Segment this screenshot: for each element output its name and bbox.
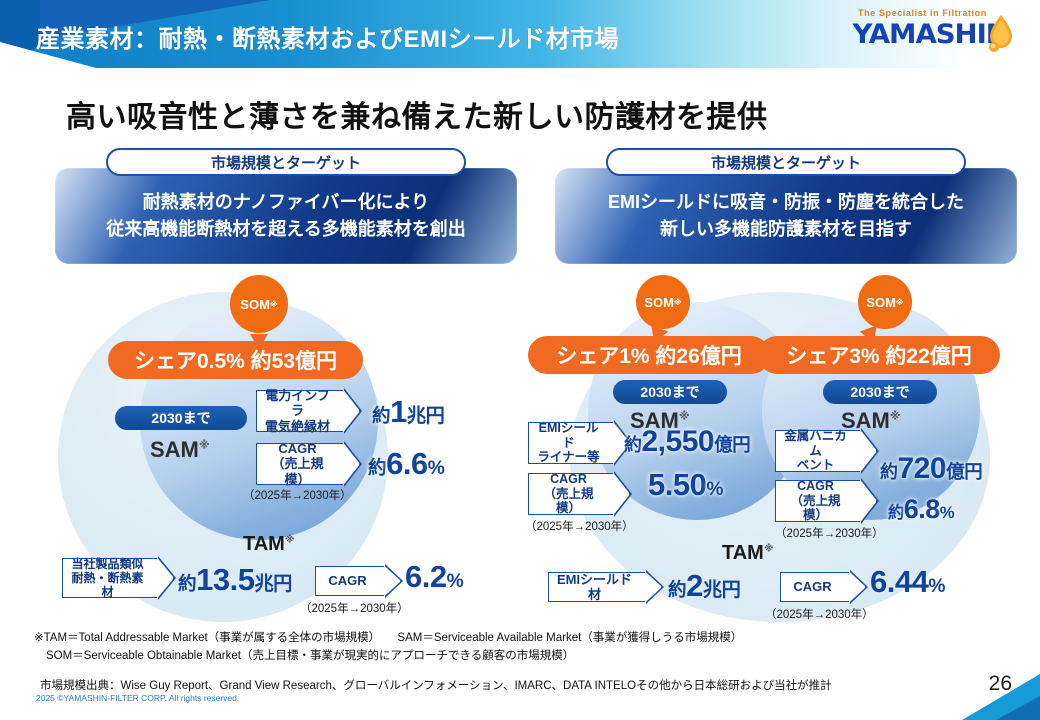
until-pill-left: 2030まで (115, 406, 247, 430)
sam-label-left: SAM※ (150, 437, 210, 463)
corner-accent-shape-2 (996, 696, 1040, 720)
tam-callout-left-line2: 耐熱・断熱素材 (70, 571, 145, 599)
panel-right-headline-line1: EMIシールドに吸音・防振・防塵を統合した (608, 189, 964, 216)
panel-left-headline: 耐熱素材のナノファイバー化により 従来高機能断熱材を超える多機能素材を創出 (55, 168, 517, 264)
som-mark-left: ※ (270, 300, 278, 309)
tam-cagr-label-left: CAGR (328, 573, 366, 588)
tam-value-right-number: 2 (686, 568, 703, 603)
tam-year-note-right: （2025年→2030年） (765, 606, 874, 622)
value-middle-1: 約2,550億円 (624, 425, 750, 459)
panel-right-headline-line2: 新しい多機能防護素材を目指す (608, 216, 964, 243)
tam-cagr-callout-left: CAGR (315, 566, 387, 596)
tam-value-left-prefix: 約 (178, 573, 196, 594)
tam-cagr-number-left: 6.2 (405, 559, 447, 594)
footnotes-block: ※TAM＝Total Addressable Market（事業が属する全体の市… (34, 630, 994, 693)
yamashin-logo: The Specialist in Filtration YAMASHIN (848, 8, 1018, 58)
callout-right-2: CAGR （売上規模） (775, 480, 863, 522)
value-middle-1-unit: 億円 (714, 434, 750, 455)
tam-cagr-value-left: 6.2% (405, 559, 463, 595)
tam-callout-right: EMIシールド材 (548, 572, 648, 602)
footnote-source: 市場規模出典：Wise Guy Report、Grand View Resear… (34, 677, 994, 693)
value-left-1: 約1兆円 (372, 394, 444, 430)
value-right-1-unit: 億円 (946, 461, 982, 482)
callout-right-2-line2: （売上規模） (783, 494, 848, 524)
value-middle-2-number: 5.50 (648, 467, 706, 502)
tam-cagr-callout-right: CAGR (780, 572, 852, 602)
value-middle-1-prefix: 約 (624, 435, 642, 455)
value-left-1-unit: 兆円 (407, 406, 444, 427)
value-right-1: 約720億円 (880, 452, 982, 486)
som-label-right: SOM (866, 295, 896, 310)
value-right-2-number: 6.8 (904, 494, 940, 524)
panel-right-tag: 市場規模とターゲット (606, 148, 966, 176)
som-circle-left: SOM※ (230, 275, 288, 333)
callout-right-2-line1: CAGR (783, 479, 848, 494)
share-pill-middle: シェア1% 約26億円 (528, 336, 770, 374)
value-left-2-number: 6.6 (386, 446, 428, 481)
panel-left-headline-line1: 耐熱素材のナノファイバー化により (106, 189, 465, 216)
som-label-middle: SOM (644, 295, 674, 310)
droplet-icon (982, 14, 1018, 54)
sam-mark-right: ※ (890, 411, 901, 423)
callout-left-2-line1: CAGR (264, 441, 331, 456)
value-right-1-number: 720 (898, 452, 947, 485)
year-note-left: （2025年→2030年） (243, 487, 352, 503)
tam-value-right-unit: 兆円 (703, 580, 740, 601)
sam-mark-left: ※ (199, 440, 210, 452)
share-pill-right: シェア3% 約22億円 (758, 336, 1000, 374)
panel-left-tag: 市場規模とターゲット (106, 148, 466, 176)
sam-mark-middle: ※ (679, 411, 690, 423)
callout-middle-1: EMIシールド ライナー等 (528, 422, 616, 464)
callout-middle-2-line2: （売上規模） (536, 487, 601, 517)
venn-diagram-area: SOM※ シェア0.5% 約53億円 2030まで SAM※ 電力インフラ 電気… (0, 270, 1040, 630)
value-right-1-prefix: 約 (880, 462, 898, 482)
slide-header: 産業素材：耐熱・断熱素材およびEMIシールド材市場 The Specialist… (0, 0, 1040, 68)
som-circle-middle: SOM※ (636, 275, 690, 329)
panel-right-headline: EMIシールドに吸音・防振・防塵を統合した 新しい多機能防護素材を目指す (555, 168, 1017, 264)
value-left-2: 約6.6% (368, 446, 444, 482)
value-middle-2: 5.50% (648, 467, 723, 503)
value-left-2-unit: % (428, 458, 445, 479)
tam-cagr-label-right: CAGR (793, 579, 831, 594)
callout-right-1: 金属ハニカム ベント (775, 430, 863, 472)
som-mark-middle: ※ (674, 298, 682, 307)
tam-cagr-value-right: 6.44% (870, 564, 945, 600)
value-right-2: 約6.8% (888, 494, 954, 525)
value-middle-1-number: 2,550 (642, 425, 715, 458)
callout-left-1-line2: 電気絶縁材 (264, 419, 331, 434)
panel-left-headline-line2: 従来高機能断熱材を超える多機能素材を創出 (106, 216, 465, 243)
callout-middle-1-line1: EMIシールド (536, 421, 601, 451)
tam-value-right: 約2兆円 (668, 568, 740, 604)
callout-right-1-line1: 金属ハニカム (783, 429, 848, 459)
tam-value-left-unit: 兆円 (254, 574, 291, 595)
callout-left-2-line2: （売上規模） (264, 456, 331, 487)
value-left-1-number: 1 (390, 394, 407, 429)
tam-text-right: TAM (722, 542, 764, 564)
page-title: 高い吸音性と薄さを兼ね備えた新しい防護材を提供 (66, 92, 768, 136)
footnote-line-2: SOM＝Serviceable Obtainable Market（売上目標・事… (34, 648, 994, 666)
until-pill-middle: 2030まで (613, 380, 727, 404)
tam-cagr-unit-right: % (928, 576, 945, 597)
callout-middle-1-line2: ライナー等 (536, 450, 601, 465)
callout-left-1-line1: 電力インフラ (264, 388, 331, 419)
tam-cagr-unit-left: % (447, 571, 464, 592)
tam-mark-left: ※ (285, 534, 295, 545)
year-note-middle: （2025年→2030年） (525, 518, 634, 534)
tam-callout-left-line1: 当社製品類似 (70, 557, 145, 571)
until-pill-right: 2030まで (823, 380, 937, 404)
callout-middle-2-line1: CAGR (536, 472, 601, 487)
som-label-left: SOM (240, 297, 270, 312)
tam-text-left: TAM (243, 533, 285, 555)
share-pill-left: シェア0.5% 約53億円 (108, 341, 363, 379)
value-left-1-prefix: 約 (372, 405, 390, 426)
slide-root: 産業素材：耐熱・断熱素材およびEMIシールド材市場 The Specialist… (0, 0, 1040, 720)
value-left-2-prefix: 約 (368, 457, 386, 478)
year-note-right: （2025年→2030年） (775, 525, 884, 541)
value-right-2-unit: % (940, 503, 954, 522)
footnote-line-1: ※TAM＝Total Addressable Market（事業が属する全体の市… (34, 630, 994, 648)
tam-callout-left: 当社製品類似 耐熱・断熱素材 (62, 558, 160, 598)
value-right-2-prefix: 約 (888, 504, 904, 522)
som-circle-right: SOM※ (858, 275, 912, 329)
callout-middle-2: CAGR （売上規模） (528, 473, 616, 515)
tam-value-left-number: 13.5 (196, 562, 254, 597)
callout-right-1-line2: ベント (783, 458, 848, 473)
tam-value-left: 約13.5兆円 (178, 562, 292, 598)
tam-callout-right-text: EMIシールド材 (556, 572, 633, 603)
callout-left-2: CAGR （売上規模） (256, 443, 346, 485)
header-title: 産業素材：耐熱・断熱素材およびEMIシールド材市場 (36, 19, 619, 54)
callout-left-1: 電力インフラ 電気絶縁材 (256, 390, 346, 432)
som-mark-right: ※ (896, 298, 904, 307)
value-middle-2-unit: % (706, 479, 723, 500)
tam-cagr-number-right: 6.44 (870, 564, 928, 599)
tam-mark-right: ※ (764, 543, 774, 554)
tam-value-right-prefix: 約 (668, 579, 686, 600)
logo-tagline: The Specialist in Filtration (858, 8, 987, 18)
tam-label-right: TAM※ (722, 542, 774, 565)
sam-text-left: SAM (150, 437, 199, 462)
copyright-text: 2025 ©YAMASHIN-FILTER CORP. All rights r… (36, 693, 239, 703)
tam-year-note-left: （2025年→2030年） (300, 600, 409, 616)
tam-label-left: TAM※ (243, 533, 295, 556)
